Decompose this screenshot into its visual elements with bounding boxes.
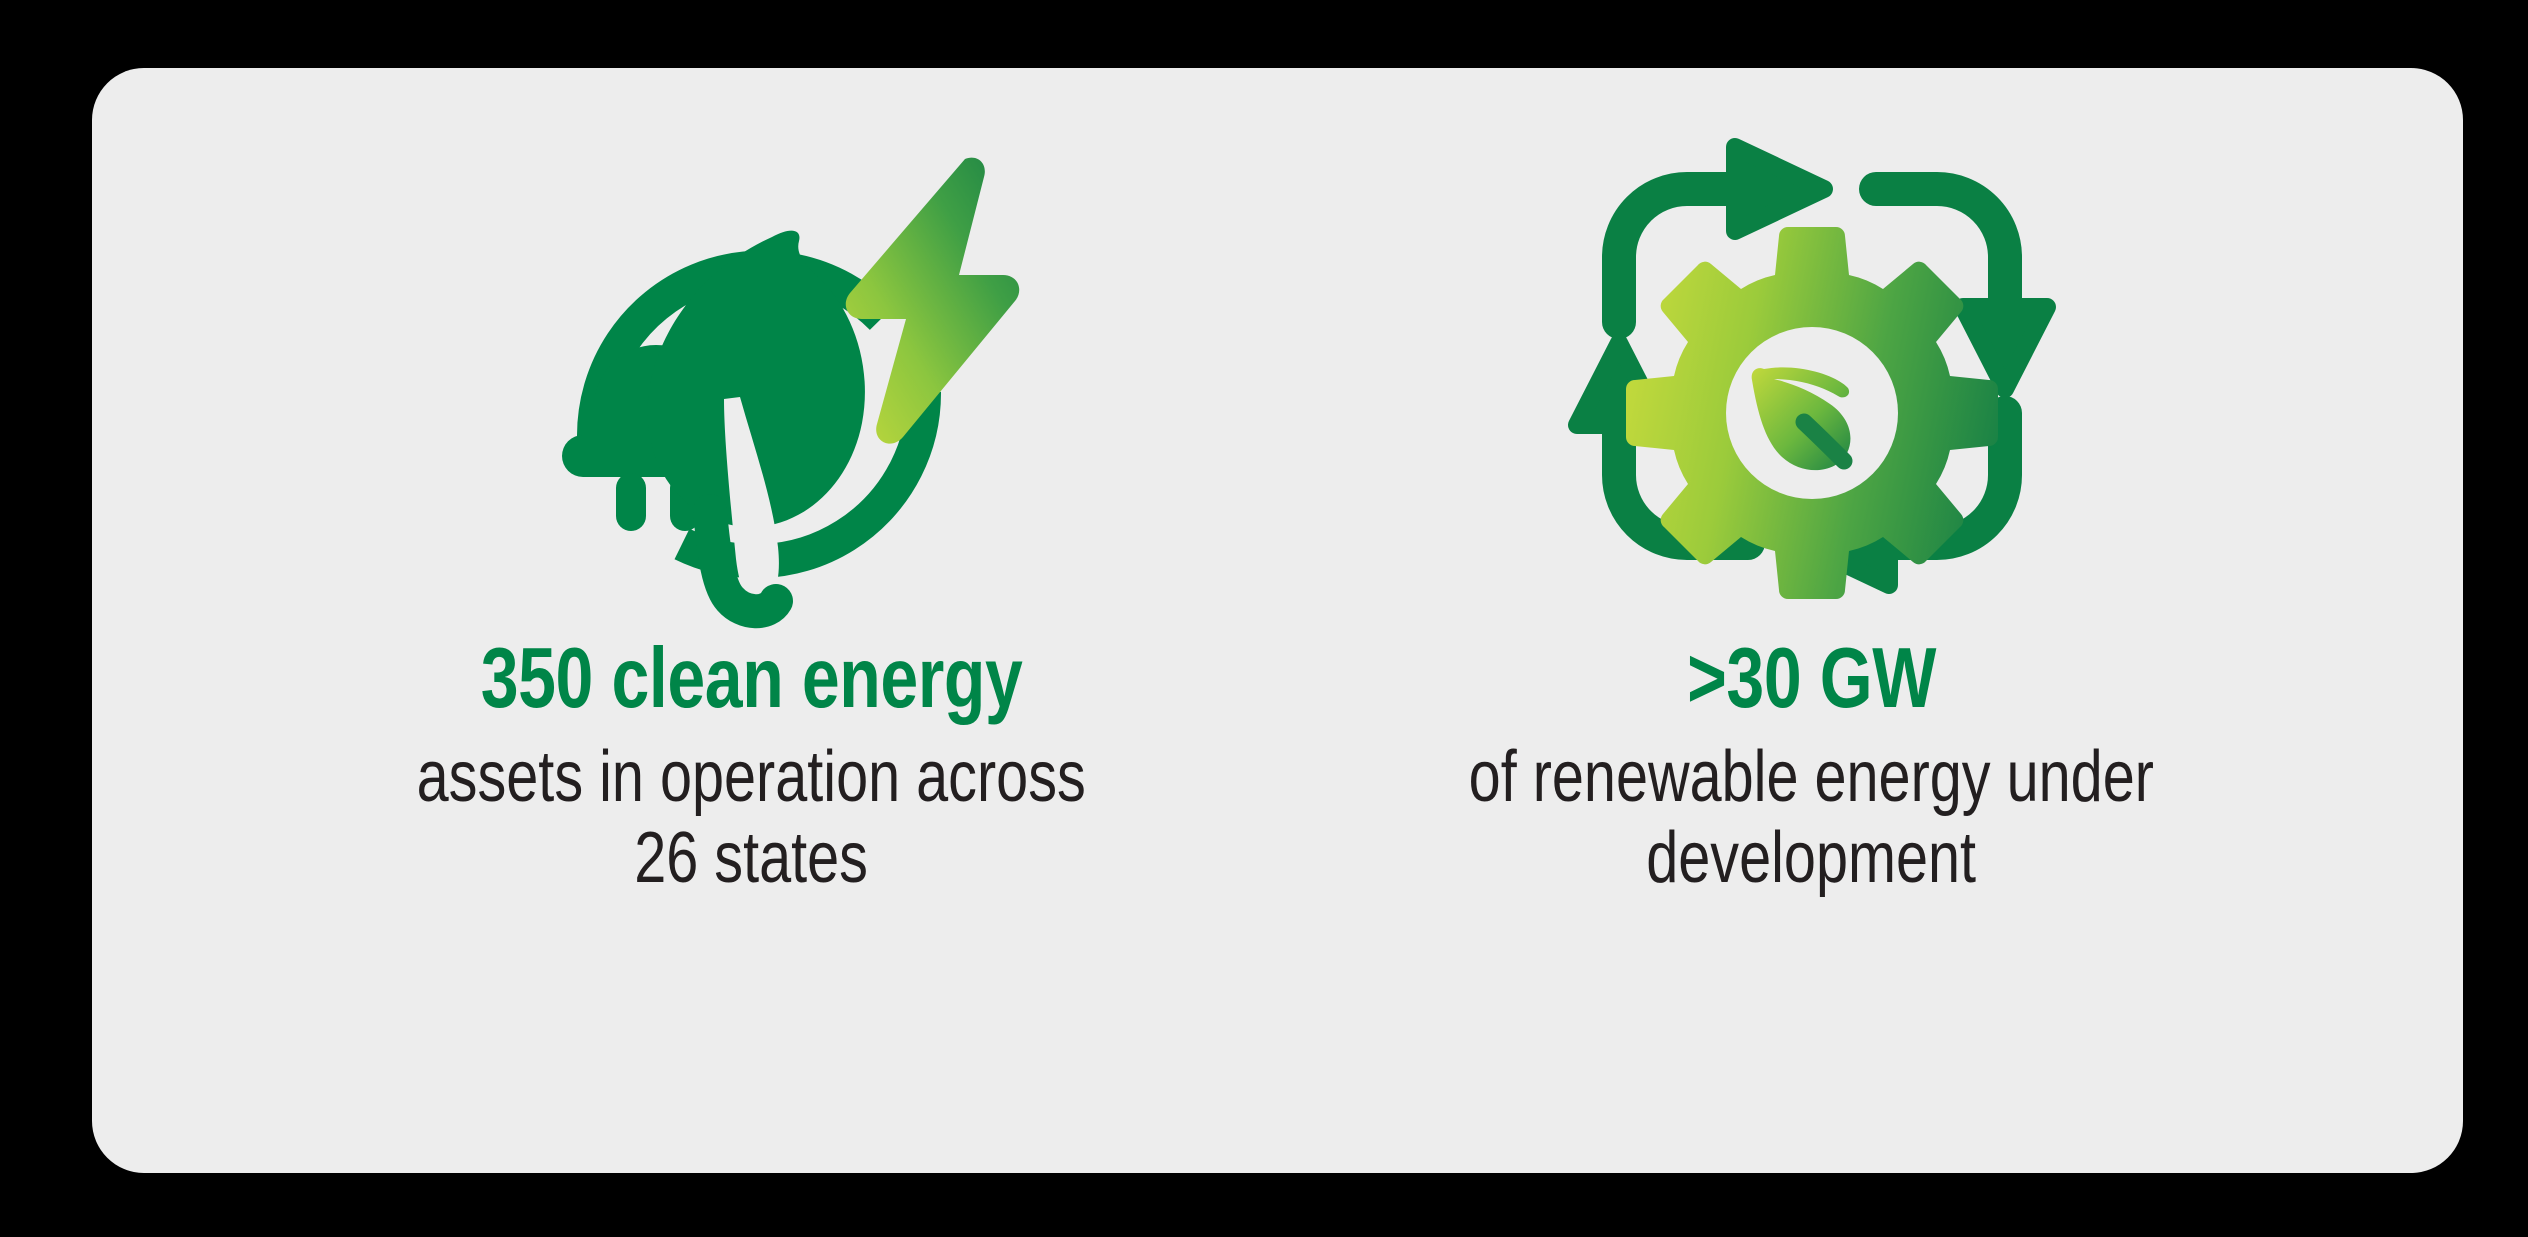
- stat-subline-1: assets in operation across: [417, 735, 1086, 820]
- stat-block-renewable-gw: >30 GW of renewable energy under develop…: [1322, 102, 2302, 901]
- stat-subline-1: of renewable energy under: [1469, 735, 2154, 820]
- page-root: 350 clean energy assets in operation acr…: [0, 0, 2528, 1237]
- stats-card: 350 clean energy assets in operation acr…: [92, 68, 2463, 1173]
- stat-headline: 350 clean energy: [481, 636, 1023, 721]
- plug-prong-left: [616, 473, 646, 531]
- plug-leaf-bolt-svg: [472, 107, 1032, 627]
- gear-recycle-svg: [1552, 117, 2072, 617]
- stat-subline-2: 26 states: [635, 816, 869, 901]
- stat-block-clean-energy: 350 clean energy assets in operation acr…: [262, 102, 1242, 901]
- renewable-gear-recycle-icon: [1532, 102, 2092, 632]
- lightning-bolt: [845, 158, 1018, 444]
- clean-energy-plug-leaf-icon: [452, 102, 1052, 632]
- stat-headline: >30 GW: [1687, 636, 1936, 721]
- stat-subline-2: development: [1647, 816, 1977, 901]
